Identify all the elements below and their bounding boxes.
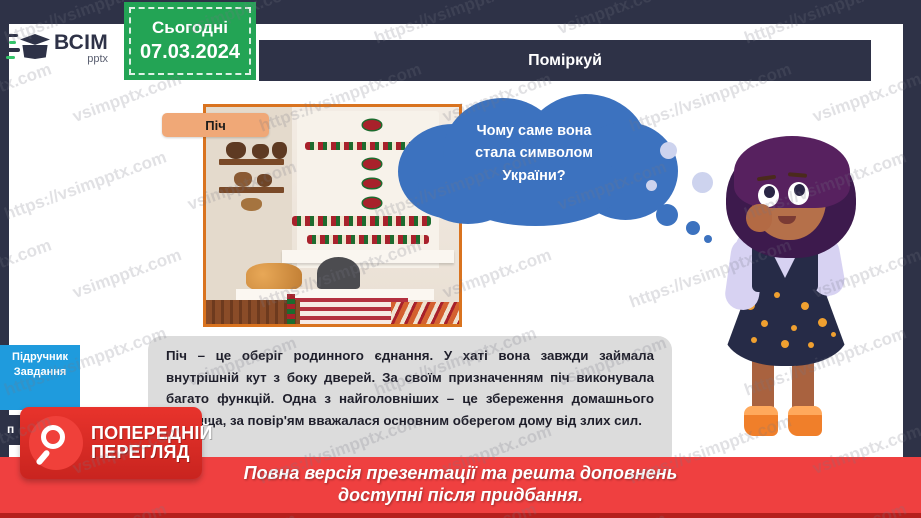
banner-line-2: доступні після придбання. [338,485,583,507]
thought-bubble-text: Чому саме вона стала символом України? [416,120,652,187]
logo-name: ВСІМ [54,32,108,53]
bubble-ghost-dot [692,172,713,193]
thought-line-2: стала символом [416,142,652,164]
bubble-ghost-dot [660,142,677,159]
textbook-label-line2: Завдання [0,365,80,380]
slide-title-bar: Поміркуй [259,40,871,81]
sidebar-item-textbook[interactable]: Підручник Завдання [0,345,80,410]
body-paragraph: Піч – це оберіг родинного єднання. У хат… [166,345,654,431]
bubble-trail-dot [704,235,712,243]
bubble-trail-dot [686,221,700,235]
date-badge: Сьогодні 07.03.2024 [124,2,256,80]
date-badge-label: Сьогодні [152,18,228,38]
date-badge-value: 07.03.2024 [140,40,240,64]
banner-line-1: Повна версія презентації та решта доповн… [244,463,678,485]
textbook-label-line1: Підручник [0,350,80,365]
thinking-girl-illustration [700,140,880,470]
sidebar-strip-text: п [7,422,14,436]
graduation-cap-icon [4,30,50,66]
page-title: Поміркуй [528,52,602,70]
photo-label-tag: Піч [162,113,269,137]
bubble-trail-dot [656,204,678,226]
thought-line-3: України? [416,165,652,187]
brand-logo[interactable]: ВСІМ pptx [4,30,108,66]
slide-root: ВСІМ pptx Сьогодні 07.03.2024 Поміркуй [0,0,921,518]
thought-line-1: Чому саме вона [416,120,652,142]
preview-badge[interactable]: ПОПЕРЕДНІЙ ПЕРЕГЛЯД [20,407,202,479]
preview-badge-line2: ПЕРЕГЛЯД [91,443,213,462]
logo-subtitle: pptx [54,54,108,65]
preview-badge-line1: ПОПЕРЕДНІЙ [91,424,213,443]
thought-bubble: Чому саме вона стала символом України? [388,94,678,227]
body-text-card: Піч – це оберіг родинного єднання. У хат… [148,336,672,468]
magnifier-icon [29,416,83,470]
